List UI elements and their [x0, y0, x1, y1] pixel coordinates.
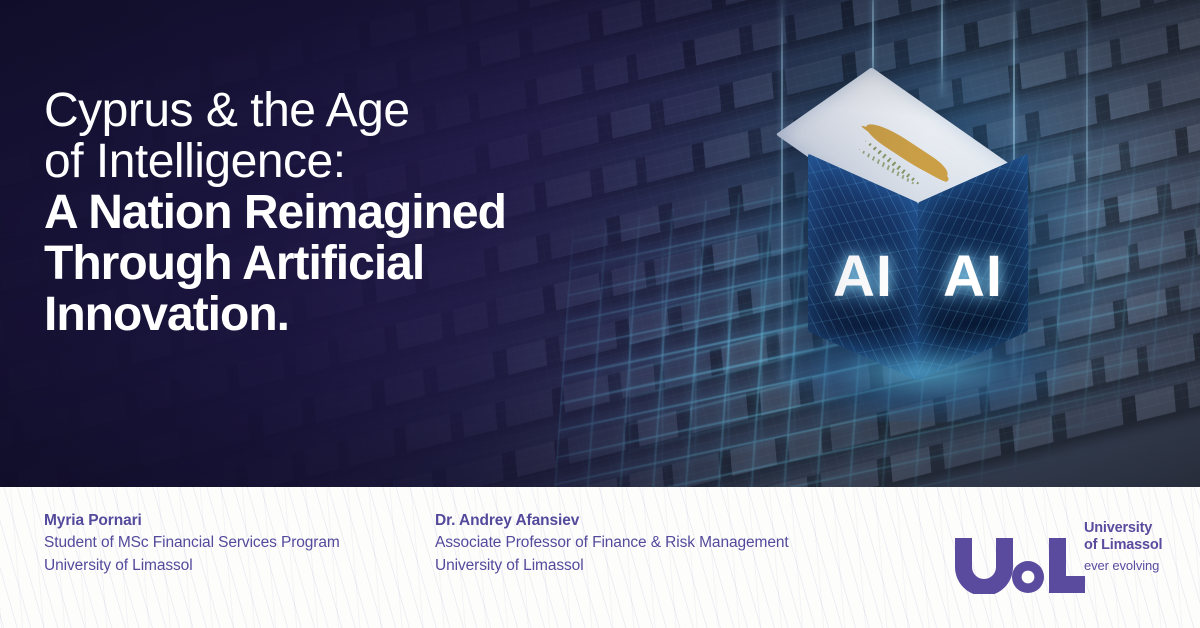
university-logo: University of Limassol ever evolving: [953, 514, 1178, 600]
presenter-1-organization: University of Limassol: [44, 555, 340, 577]
presenter-2-name: Dr. Andrey Afansiev: [435, 510, 789, 532]
title-line-3: A Nation Reimagined: [44, 188, 644, 239]
logo-line-of-limassol: of Limassol: [1084, 537, 1176, 554]
uol-logo-icon: [953, 536, 1085, 594]
presenter-1-role: Student of MSc Financial Services Progra…: [44, 532, 340, 554]
event-banner: AI AI Cyprus & the Age of Intelligence: …: [0, 0, 1200, 628]
event-title: Cyprus & the Age of Intelligence: A Nati…: [44, 86, 644, 340]
title-line-5: Innovation.: [44, 290, 644, 341]
presenter-2-role: Associate Professor of Finance & Risk Ma…: [435, 532, 789, 554]
logo-wordmark: University of Limassol ever evolving: [1084, 520, 1176, 579]
logo-tagline: ever evolving: [1084, 554, 1176, 579]
title-line-1: Cyprus & the Age: [44, 86, 644, 137]
logo-line-university: University: [1084, 520, 1176, 537]
hero-section: AI AI Cyprus & the Age of Intelligence: …: [0, 0, 1200, 487]
presenter-block-1: Myria Pornari Student of MSc Financial S…: [44, 510, 340, 577]
presenter-block-2: Dr. Andrey Afansiev Associate Professor …: [435, 510, 789, 577]
title-line-2: of Intelligence:: [44, 137, 644, 188]
presenter-2-organization: University of Limassol: [435, 555, 789, 577]
presenter-1-name: Myria Pornari: [44, 510, 340, 532]
footer-section: Myria Pornari Student of MSc Financial S…: [0, 487, 1200, 628]
title-line-4: Through Artificial: [44, 239, 644, 290]
